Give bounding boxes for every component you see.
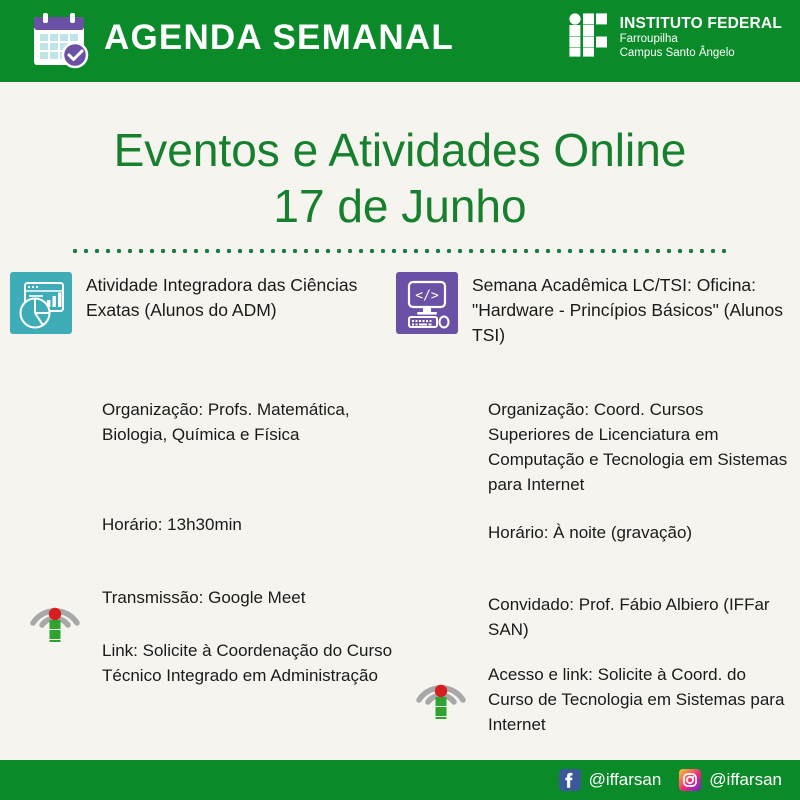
content-title-line2: 17 de Junho <box>0 178 800 234</box>
page-title: AGENDA SEMANAL <box>104 16 454 60</box>
institution-name: INSTITUTO FEDERAL <box>620 15 782 32</box>
instagram-icon[interactable] <box>679 769 701 791</box>
dotted-divider <box>72 248 732 254</box>
content-title-line1: Eventos e Atividades Online <box>114 124 687 176</box>
if-logo-grid-icon <box>569 13 611 62</box>
event-header-2: </> Semana Acadêmica LC/TSI: Oficina: "H… <box>396 272 786 348</box>
event-column-right: </> Semana Acadêmica LC/TSI: Oficina: "H… <box>396 272 786 348</box>
event-title-2: Semana Acadêmica LC/TSI: Oficina: "Hardw… <box>472 272 786 348</box>
broadcast-antenna-icon <box>410 657 472 719</box>
computer-code-icon: </> <box>396 272 458 334</box>
event-title-1: Atividade Integradora das Ciências Exata… <box>86 272 400 323</box>
event-organization-1: Organização: Profs. Matemática, Biologia… <box>102 397 402 447</box>
event-schedule-1: Horário: 13h30min <box>102 512 402 537</box>
page-header: AGENDA SEMANAL INSTITUTO FEDERAL Farroup… <box>0 0 800 82</box>
event-link-1: Link: Solicite à Coordenação do Curso Té… <box>102 638 402 688</box>
event-organization-2: Organização: Coord. Cursos Superiores de… <box>488 397 788 497</box>
institution-campus: Campus Santo Ângelo <box>620 46 782 60</box>
dashboard-chart-icon <box>10 272 72 334</box>
social-instagram[interactable]: @iffarsan <box>679 769 782 791</box>
calendar-check-icon <box>28 11 90 71</box>
institution-unit: Farroupilha <box>620 32 782 46</box>
svg-text:</>: </> <box>415 289 439 304</box>
broadcast-antenna-icon <box>24 580 86 642</box>
event-schedule-2: Horário: À noite (gravação) <box>488 520 788 545</box>
facebook-icon[interactable] <box>559 769 581 791</box>
event-column-left: Atividade Integradora das Ciências Exata… <box>10 272 400 334</box>
instagram-handle[interactable]: @iffarsan <box>709 770 782 790</box>
event-broadcast-1: Transmissão: Google Meet <box>102 585 402 610</box>
event-link-2: Acesso e link: Solicite à Coord. do Curs… <box>488 662 788 737</box>
social-facebook[interactable]: @iffarsan <box>559 769 662 791</box>
content-title: Eventos e Atividades Online 17 de Junho <box>0 122 800 234</box>
institution-logo: INSTITUTO FEDERAL Farroupilha Campus San… <box>569 13 782 62</box>
event-guest-2: Convidado: Prof. Fábio Albiero (IFFar SA… <box>488 592 788 642</box>
page-footer: @iffarsan @iffarsan <box>0 760 800 800</box>
event-header-1: Atividade Integradora das Ciências Exata… <box>10 272 400 334</box>
facebook-handle[interactable]: @iffarsan <box>589 770 662 790</box>
